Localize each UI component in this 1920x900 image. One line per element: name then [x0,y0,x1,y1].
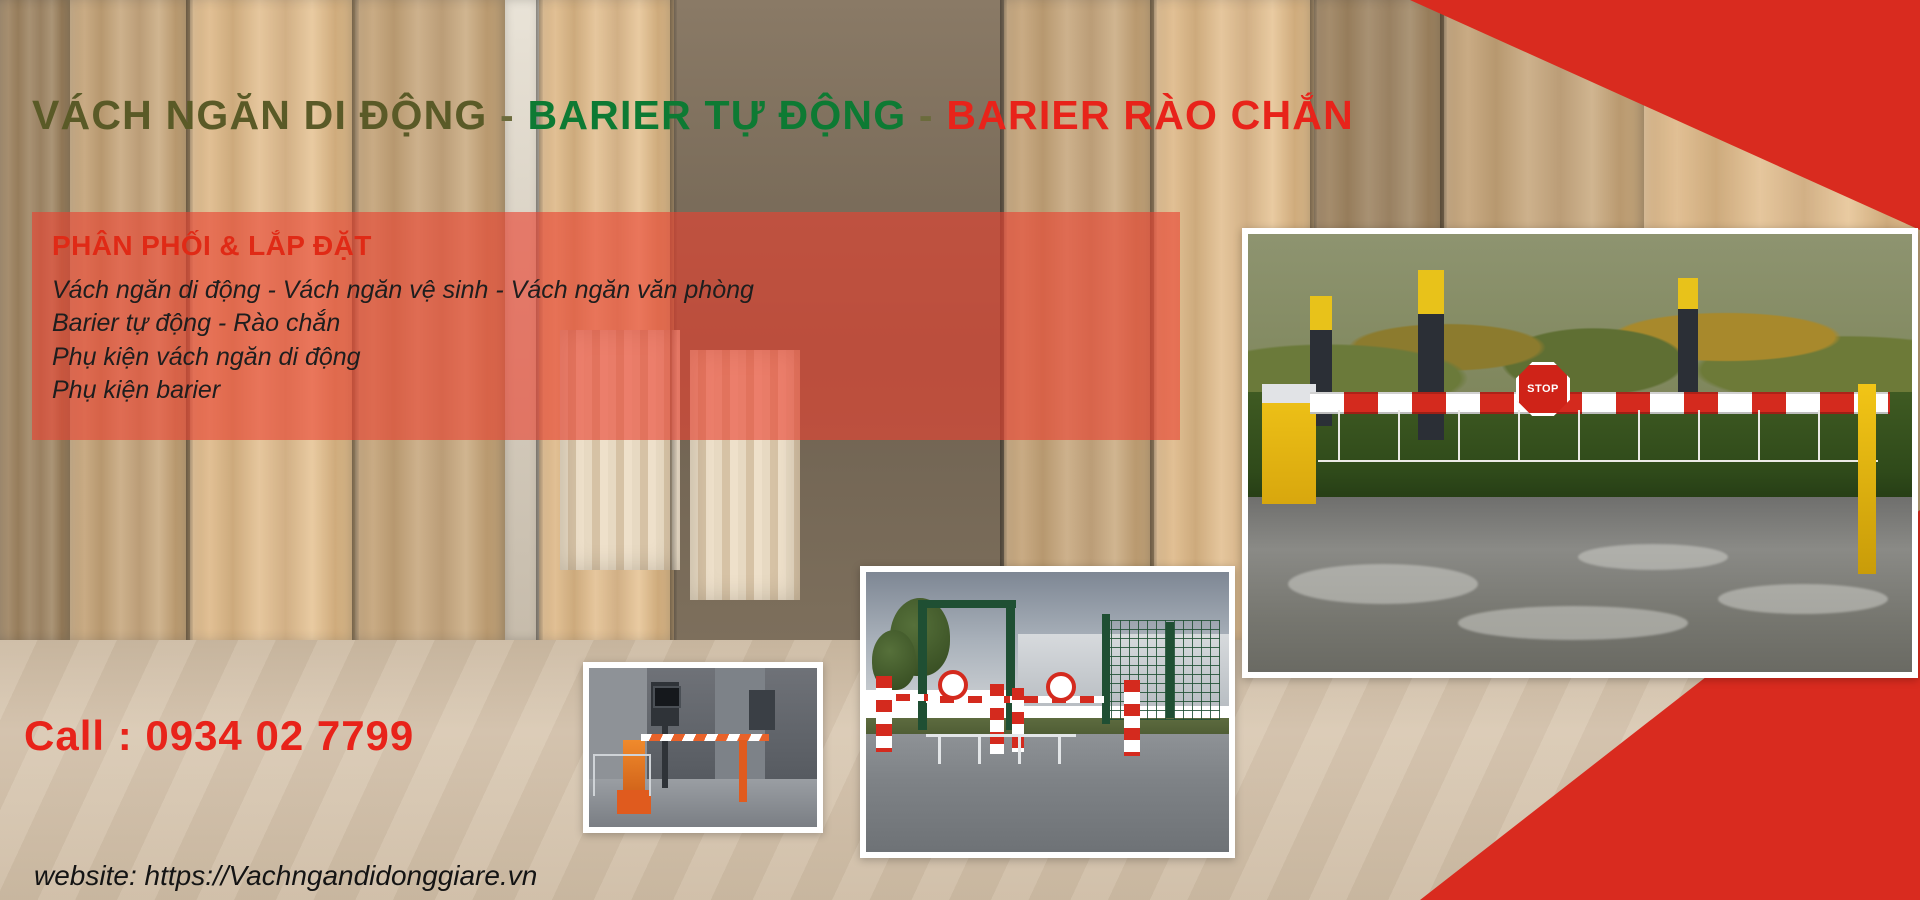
guard-rail-post [1018,734,1021,764]
boom-skirt-bar [1398,410,1400,462]
info-line: Phụ kiện vách ngăn di động [52,341,754,374]
control-post [1678,278,1698,398]
red-white-bollard [1124,680,1140,756]
promo-banner: VÁCH NGĂN DI ĐỘNG - BARIER TỰ ĐỘNG - BAR… [0,0,1920,900]
boom-skirt-bar [1638,410,1640,462]
red-white-bollard [876,676,892,752]
boom-skirt-rail [1318,460,1878,462]
guard-rail-post [1058,734,1061,764]
boom-skirt-bar [1458,410,1460,462]
red-white-bollard [990,684,1004,754]
gate-frame [918,600,927,730]
photo-indoor-parking-barrier [583,662,823,833]
info-panel-title: PHÂN PHỐI & LẮP ĐẶT [52,230,372,262]
boom-skirt-bar [1338,410,1340,462]
puddle [1288,564,1478,604]
title-separator: - [487,92,527,138]
control-panel [749,690,775,730]
photo-industrial-gate-barrier [860,566,1235,858]
page-title: VÁCH NGĂN DI ĐỘNG - BARIER TỰ ĐỘNG - BAR… [32,92,1354,139]
fence-mesh [1102,620,1220,720]
info-panel: PHÂN PHỐI & LẮP ĐẶT Vách ngăn di động - … [32,212,1180,440]
guard-rail-post [938,734,941,764]
display-screen [653,686,681,708]
boom-skirt-bar [1758,410,1760,462]
title-segment-partition: VÁCH NGĂN DI ĐỘNG [32,92,487,138]
title-segment-auto-barrier: BARIER TỰ ĐỘNG [528,92,907,138]
barrier-boom-arm [1310,392,1890,414]
gate-frame [918,600,1016,608]
title-separator: - [906,92,946,138]
barrier-cabinet [1262,384,1316,504]
boom-skirt-bar [1578,410,1580,462]
barrier-boom-arm [641,734,769,741]
boom-skirt-bar [1698,410,1700,462]
puddle [1458,606,1688,640]
puddle [1578,544,1728,570]
no-entry-sign-icon [938,670,968,700]
info-line: Barier tự động - Rào chắn [52,307,754,340]
boom-skirt-bar [1518,410,1520,462]
pedestrian-rail [593,754,651,796]
info-panel-list: Vách ngăn di động - Vách ngăn vệ sinh - … [52,274,754,407]
info-line: Phụ kiện barier [52,374,754,407]
guard-rail-post [978,734,981,764]
orange-bollard [739,740,747,802]
control-post [1418,270,1444,440]
website-url[interactable]: website: https://Vachngandidonggiare.vn [34,860,537,892]
no-entry-sign-icon [1046,672,1076,702]
info-line: Vách ngăn di động - Vách ngăn vệ sinh - … [52,274,754,307]
title-segment-fence-barrier: BARIER RÀO CHẮN [946,92,1354,138]
stop-sign-label: STOP [1527,383,1559,395]
phone-number[interactable]: Call : 0934 02 7799 [24,712,414,760]
guard-rail [926,734,1076,737]
boom-skirt-bar [1818,410,1820,462]
photo-automatic-road-barrier: STOP [1242,228,1918,678]
puddle [1718,584,1888,614]
asphalt-road [866,734,1229,852]
yellow-bollard [1858,384,1876,574]
